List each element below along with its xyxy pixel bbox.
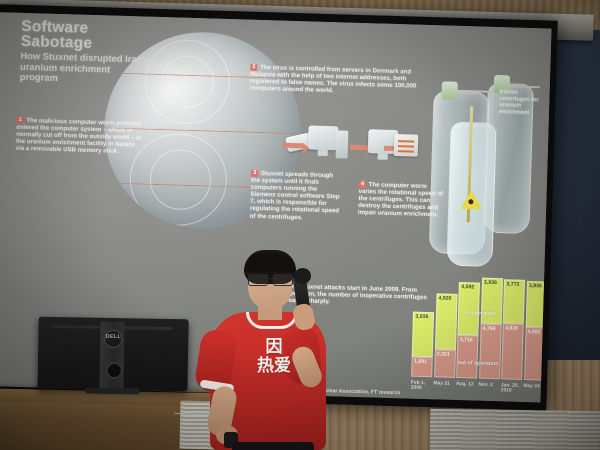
bar-value-out-of-operation: 3,716 — [460, 337, 473, 343]
monitor-base — [85, 388, 139, 395]
slide-title-line2: Sabotage — [21, 34, 93, 51]
bar-value-in-operation: 4,920 — [438, 295, 451, 301]
hair-front — [244, 254, 296, 272]
bar-segment-out-of-operation: 3,716 — [456, 335, 478, 379]
slide-step-3: 3Stuxnet spreads through the system unti… — [250, 170, 343, 222]
slide-title: Software Sabotage — [21, 19, 93, 51]
slide-step-4: 4The computer worm varies the rotational… — [358, 181, 445, 219]
bar-segment-out-of-operation: 4,766 — [479, 324, 502, 380]
step-text-1: The malicious computer worm probably ent… — [16, 117, 142, 155]
plc-controller-icon — [394, 134, 419, 157]
slide-step-1: 1The malicious computer worm probably en… — [16, 117, 145, 156]
centrifuge-caption: Iranian centrifuges for uranium enrichme… — [499, 89, 548, 117]
bar-value-in-operation: 3,936 — [415, 313, 428, 319]
glasses — [248, 274, 293, 284]
presenter: 因 热爱 — [188, 250, 338, 450]
step-text-3: Stuxnet spreads through the system until… — [250, 170, 340, 221]
bar-segment-in-operation: 4,592 — [457, 282, 480, 336]
chart-bar: 3,9364,592 — [524, 281, 548, 380]
bar-value-out-of-operation: 1,601 — [414, 359, 427, 365]
bar-value-in-operation: 4,592 — [461, 284, 474, 290]
bar-value-out-of-operation: 4,592 — [527, 329, 540, 335]
bar-value-in-operation: 3,772 — [506, 282, 519, 288]
bar-segment-in-operation: 3,772 — [503, 280, 525, 325]
bar-value-out-of-operation: 2,301 — [437, 352, 450, 358]
bar-segment-in-operation: 3,936 — [480, 278, 502, 324]
step-text-4: The computer worm varies the rotational … — [358, 181, 443, 218]
bar-segment-in-operation: 3,936 — [412, 311, 434, 357]
bar-segment-out-of-operation: 4,592 — [524, 327, 547, 381]
bar-segment-out-of-operation: 2,301 — [434, 350, 456, 378]
flow-arrow-1 — [282, 143, 304, 149]
bar-value-out-of-operation: 4,838 — [505, 326, 518, 332]
bar-segment-in-operation: 3,936 — [525, 281, 547, 327]
flow-arrow-2 — [350, 145, 368, 151]
dell-monitor: DELL — [37, 317, 188, 400]
centrifuge-bar-chart: 3,9361,6014,9202,3014,5923,7163,9364,766… — [401, 276, 550, 398]
wall-vent-right — [430, 409, 600, 450]
chart-bar: 3,9361,601 — [411, 311, 434, 377]
slide-subtitle: How Stuxnet disrupted Iran's uranium enr… — [20, 51, 151, 87]
slide-step-2: 2The virus is controlled from servers in… — [250, 64, 435, 98]
bar-segment-out-of-operation: 1,601 — [411, 357, 433, 377]
chart-bar: 3,7724,838 — [501, 280, 525, 380]
bar-segment-in-operation: 4,920 — [434, 293, 457, 350]
lecture-hall-photo: Software Sabotage How Stuxnet disrupted … — [0, 0, 600, 450]
bar-value-out-of-operation: 4,766 — [482, 326, 495, 332]
chart-bar: 4,9202,301 — [434, 293, 457, 378]
bar-value-in-operation: 3,936 — [529, 283, 542, 289]
step-text-2: The virus is controlled from servers in … — [250, 64, 417, 94]
bar-value-in-operation: 3,936 — [484, 280, 497, 286]
legend-out-of-operation: out of operation — [457, 360, 498, 367]
legend-in-operation: in operation — [465, 310, 496, 317]
trousers — [232, 442, 314, 450]
bar-segment-out-of-operation: 4,838 — [501, 324, 524, 380]
